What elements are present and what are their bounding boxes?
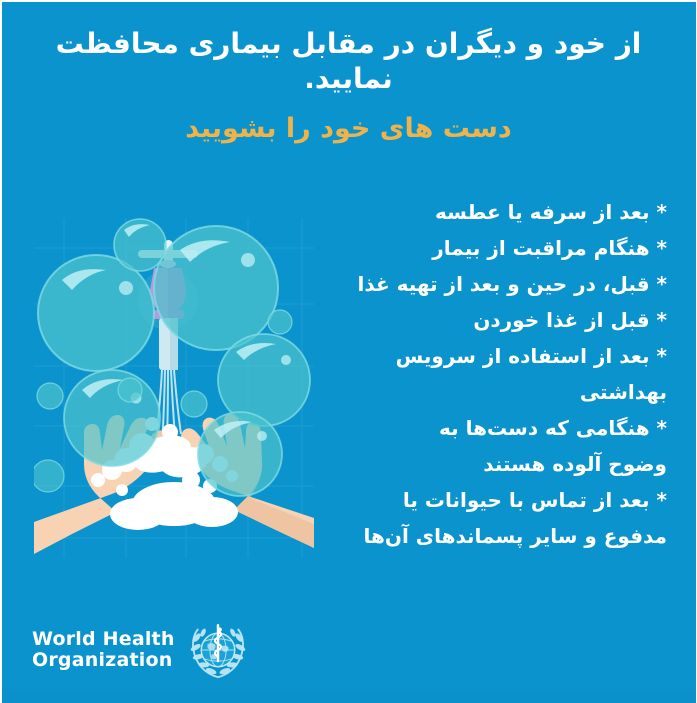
headings-block: از خود و دیگران در مقابل بیماری محافظت ن… — [0, 26, 697, 146]
list-item-continuation: وضوح آلوده هستند — [327, 446, 667, 482]
list-item-continuation: بهداشتی — [327, 374, 667, 410]
list-item: * هنگام مراقبت از بیمار — [327, 230, 667, 266]
list-item: * بعد از تماس با حیوانات یا — [327, 482, 667, 518]
who-emblem-icon — [187, 619, 249, 681]
handwashing-illustration — [34, 218, 314, 558]
list-item-continuation: مدفوع و سایر پسماندهای آن‌ها — [327, 518, 667, 554]
list-item: * هنگامی که دست‌ها به — [327, 410, 667, 446]
list-item: * بعد از سرفه یا عطسه — [327, 194, 667, 230]
who-wordmark-line1: World Health — [32, 629, 175, 650]
list-item: * قبل، در حین و بعد از تهیه غذا — [327, 266, 667, 302]
who-logo: World Health Organization — [32, 619, 249, 681]
list-item: * بعد از استفاده از سرویس — [327, 338, 667, 374]
bottom-band — [0, 689, 697, 703]
page-title: از خود و دیگران در مقابل بیماری محافظت ن… — [14, 26, 683, 96]
who-wordmark: World Health Organization — [32, 629, 175, 672]
list-item: * قبل از غذا خوردن — [327, 302, 667, 338]
who-wordmark-line2: Organization — [32, 650, 175, 671]
handwashing-tips-list: * بعد از سرفه یا عطسه * هنگام مراقبت از … — [327, 194, 667, 554]
poster-root: از خود و دیگران در مقابل بیماری محافظت ن… — [0, 0, 697, 703]
page-subtitle: دست های خود را بشویید — [14, 112, 683, 146]
